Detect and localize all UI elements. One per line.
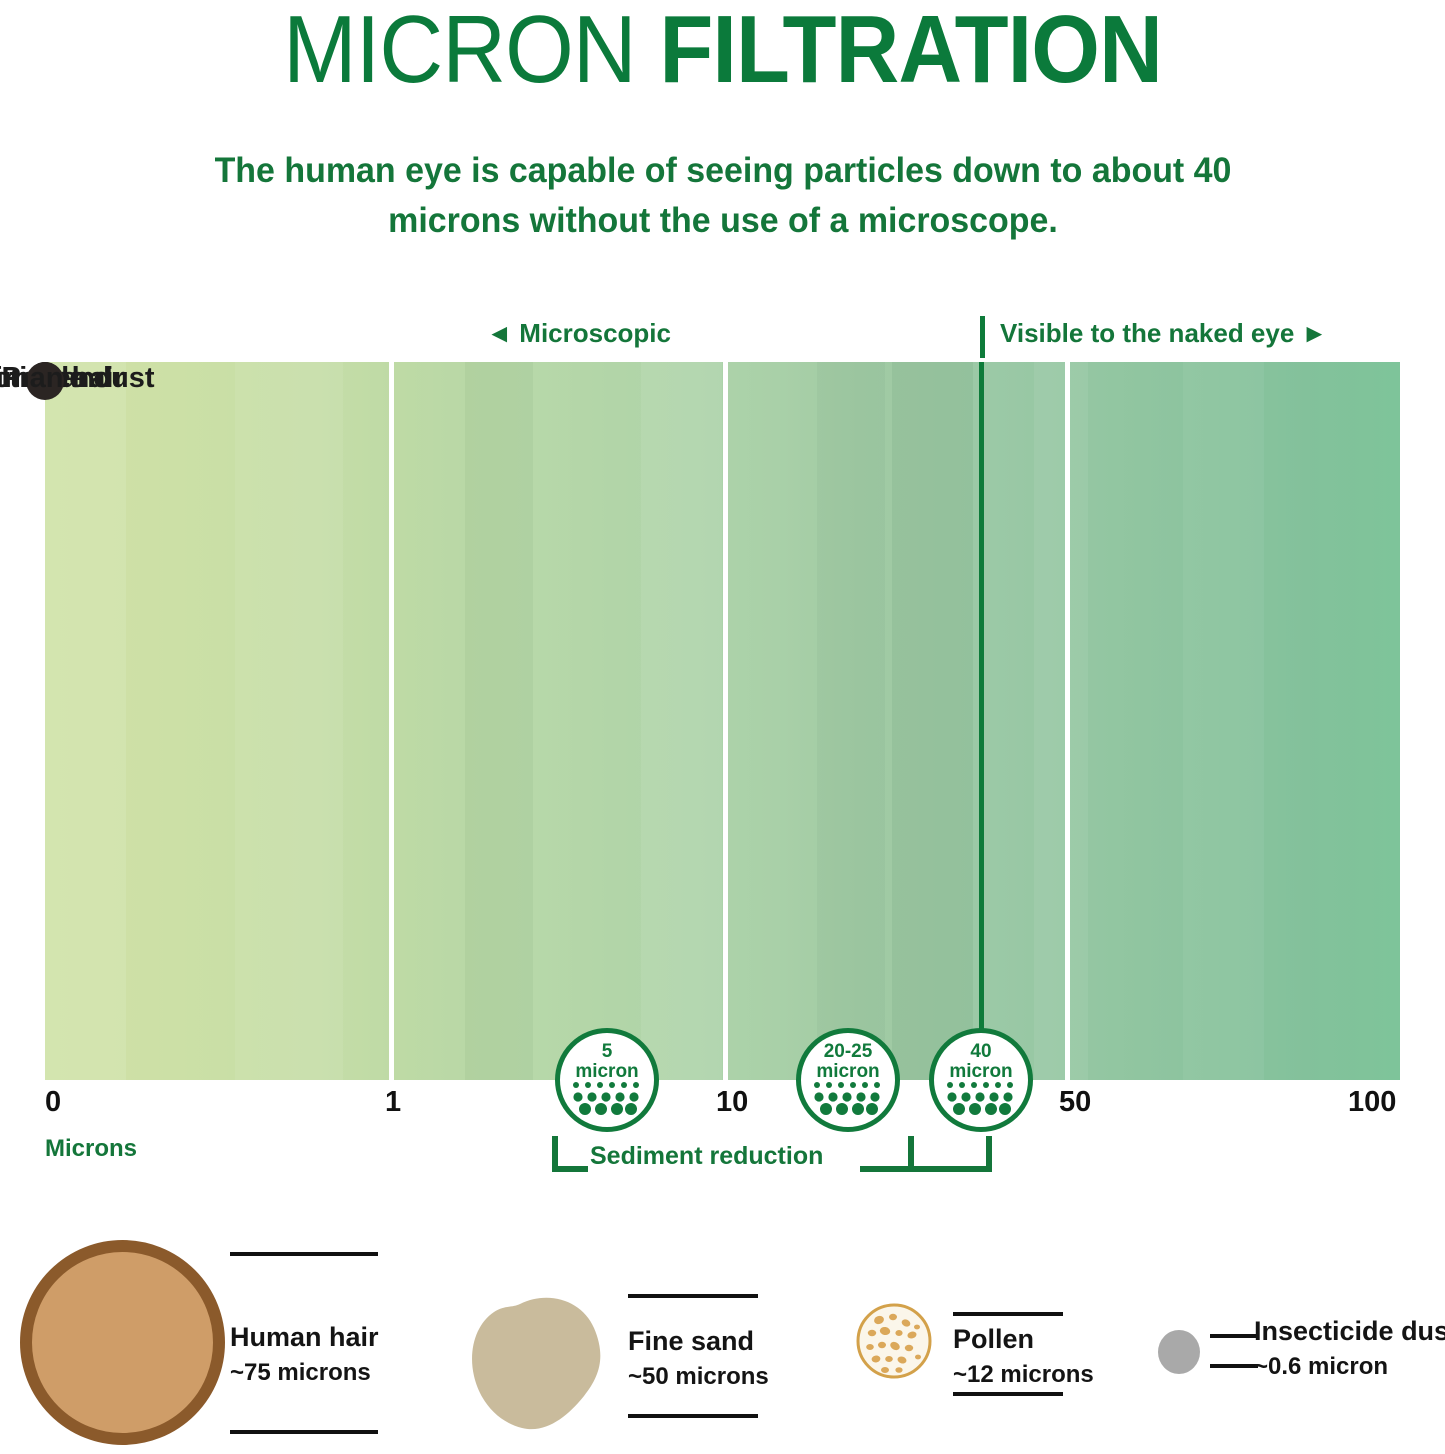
x-axis-ticks: 0 1 10 50 100 <box>45 1086 1400 1126</box>
size-rule-top <box>628 1294 758 1298</box>
tone-band <box>235 362 343 1080</box>
tone-band <box>1183 362 1264 1080</box>
axis-tick-10: 10 <box>716 1086 748 1119</box>
page-subtitle: The human eye is capable of seeing parti… <box>208 146 1236 245</box>
hair-disc-icon <box>20 1240 225 1445</box>
bracket-vertical <box>908 1136 914 1172</box>
tone-band <box>465 362 533 1080</box>
legend-size: ~50 microns <box>628 1363 769 1391</box>
title-bold: FILTRATION <box>659 0 1162 103</box>
legend-label: Human hair <box>230 1322 379 1353</box>
legend-label: Pollen <box>953 1324 1094 1355</box>
bracket-vertical <box>986 1136 992 1172</box>
dust-speck-icon <box>1158 1330 1200 1374</box>
sediment-reduction-label: Sediment reduction <box>590 1142 823 1171</box>
tone-band <box>641 362 722 1080</box>
particle-size-legend: Human hair ~75 microns Fine sand ~50 mic… <box>0 1226 1445 1454</box>
axis-tick-100: 100 <box>1348 1086 1396 1119</box>
gridline-10-micron <box>723 362 728 1080</box>
bracket-horizontal <box>860 1166 992 1172</box>
micron-scale-plot: Insecticide dust Pollen Fine sand Human … <box>45 362 1400 1080</box>
bracket-horizontal <box>552 1166 588 1172</box>
tone-band <box>1034 362 1088 1080</box>
pollen-sphere-icon <box>855 1302 933 1380</box>
visibility-threshold-line <box>979 362 984 1080</box>
gridline-50-micron <box>1065 362 1070 1080</box>
datapoint-label: Human hair <box>0 362 125 395</box>
scope-annotation-row: ◄ Microscopic Visible to the naked eye ► <box>45 316 1400 358</box>
size-rule-top <box>230 1252 378 1256</box>
axis-tick-0: 0 <box>45 1086 61 1119</box>
gridline-1-micron <box>389 362 394 1080</box>
tone-band <box>817 362 885 1080</box>
axis-tick-1: 1 <box>385 1086 401 1119</box>
filter-badge-40-micron[interactable]: 40 micron <box>929 1028 1033 1132</box>
page-title: MICRON FILTRATION <box>58 0 1387 98</box>
tone-band <box>892 362 973 1080</box>
size-rule-bottom <box>1210 1364 1258 1368</box>
size-rule-bottom <box>230 1430 378 1434</box>
filter-badge-label: 40 micron <box>934 1042 1028 1082</box>
size-rule-top <box>953 1312 1063 1316</box>
legend-size: ~12 microns <box>953 1361 1094 1389</box>
legend-size: ~75 microns <box>230 1359 379 1387</box>
microscopic-label: ◄ Microscopic <box>486 318 671 349</box>
filter-badge-label: 5 micron <box>560 1042 654 1082</box>
sediment-reduction-group: Sediment reduction <box>45 1130 1400 1190</box>
legend-label: Fine sand <box>628 1326 769 1357</box>
visibility-divider-tick <box>980 316 985 358</box>
legend-label: Insecticide dust <box>1254 1316 1445 1347</box>
size-rule-bottom <box>953 1392 1063 1396</box>
axis-tick-50: 50 <box>1059 1086 1091 1119</box>
title-light: MICRON <box>283 0 659 103</box>
page-header: MICRON FILTRATION The human eye is capab… <box>0 0 1445 245</box>
size-rule-bottom <box>628 1414 758 1418</box>
filter-badge-20-25-micron[interactable]: 20-25 micron <box>796 1028 900 1132</box>
filter-badge-5-micron[interactable]: 5 micron <box>555 1028 659 1132</box>
sand-grain-icon <box>460 1284 620 1449</box>
tone-band <box>45 362 126 1080</box>
visible-to-naked-eye-label: Visible to the naked eye ► <box>1000 318 1327 349</box>
legend-size: ~0.6 micron <box>1254 1353 1445 1381</box>
filter-badge-label: 20-25 micron <box>801 1042 895 1082</box>
size-rule-top <box>1210 1334 1258 1338</box>
